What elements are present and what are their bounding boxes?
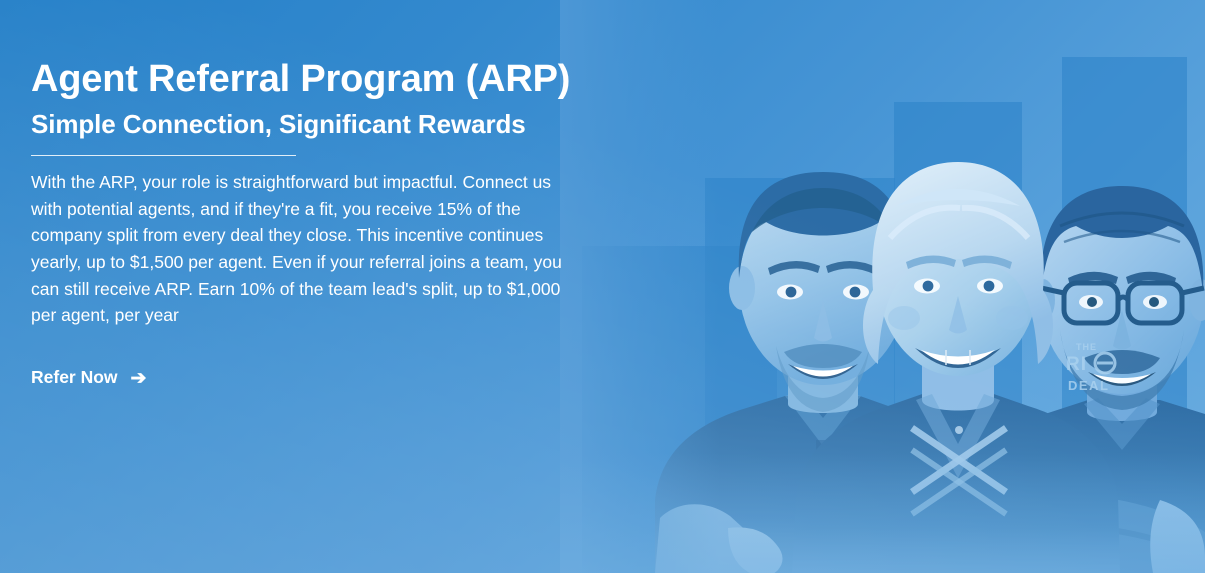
- refer-now-label: Refer Now: [31, 367, 118, 388]
- arrow-right-icon: ➔: [131, 369, 147, 388]
- agent-referral-program-hero-banner: THE RI DEAL: [0, 0, 1205, 573]
- hero-content: Agent Referral Program (ARP) Simple Conn…: [31, 0, 591, 573]
- page-subtitle: Simple Connection, Significant Rewards: [31, 101, 591, 140]
- program-description: With the ARP, your role is straightforwa…: [31, 156, 568, 329]
- refer-now-button[interactable]: Refer Now ➔: [31, 367, 146, 388]
- page-title: Agent Referral Program (ARP): [31, 0, 591, 101]
